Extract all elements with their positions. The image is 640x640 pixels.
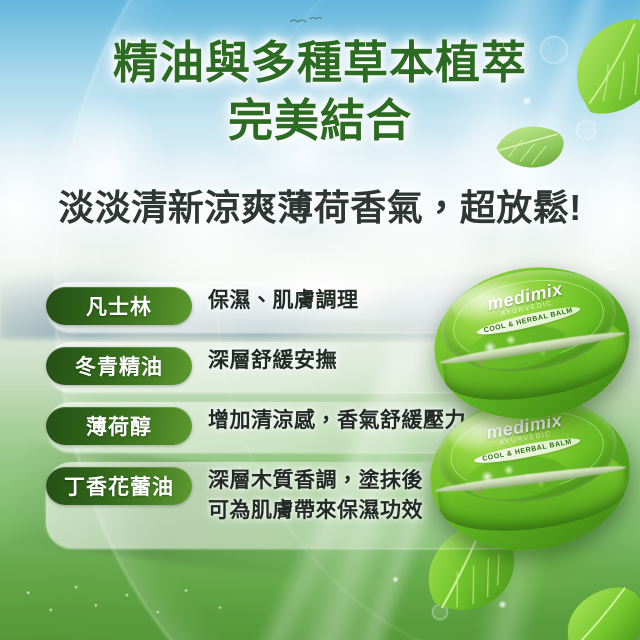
ingredient-name: 冬青精油 <box>75 351 163 381</box>
sparkle-4 <box>392 576 399 583</box>
ingredient-description: 深層木質香調，塗抹後 可為肌膚帶來保濕功效 <box>208 464 423 526</box>
ingredient-name: 凡士林 <box>86 291 152 321</box>
ingredient-description: 深層舒緩安撫 <box>208 344 337 376</box>
product-tin-upper: medimix AYURVEDIC COOL & HERBAL BALM <box>423 254 640 433</box>
bird-silhouettes <box>288 14 328 30</box>
ingredient-badge: 丁香花蕾油 <box>46 467 192 505</box>
ingredient-badge: 冬青精油 <box>46 347 192 385</box>
sparkle-1 <box>522 96 532 106</box>
ingredient-badge: 凡士林 <box>46 287 192 325</box>
tin-body: medimix AYURVEDIC COOL & HERBAL BALM <box>423 254 640 433</box>
sparkle-2 <box>588 188 596 196</box>
product-poster: 精油與多種草本植萃 完美結合 淡淡清新涼爽薄荷香氣，超放鬆! 凡士林 保濕、肌膚… <box>0 0 640 640</box>
ingredient-name: 薄荷醇 <box>86 411 152 441</box>
ingredient-badge: 薄荷醇 <box>46 407 192 445</box>
ingredient-name: 丁香花蕾油 <box>64 471 174 501</box>
ingredient-description: 保濕、肌膚調理 <box>208 284 359 316</box>
